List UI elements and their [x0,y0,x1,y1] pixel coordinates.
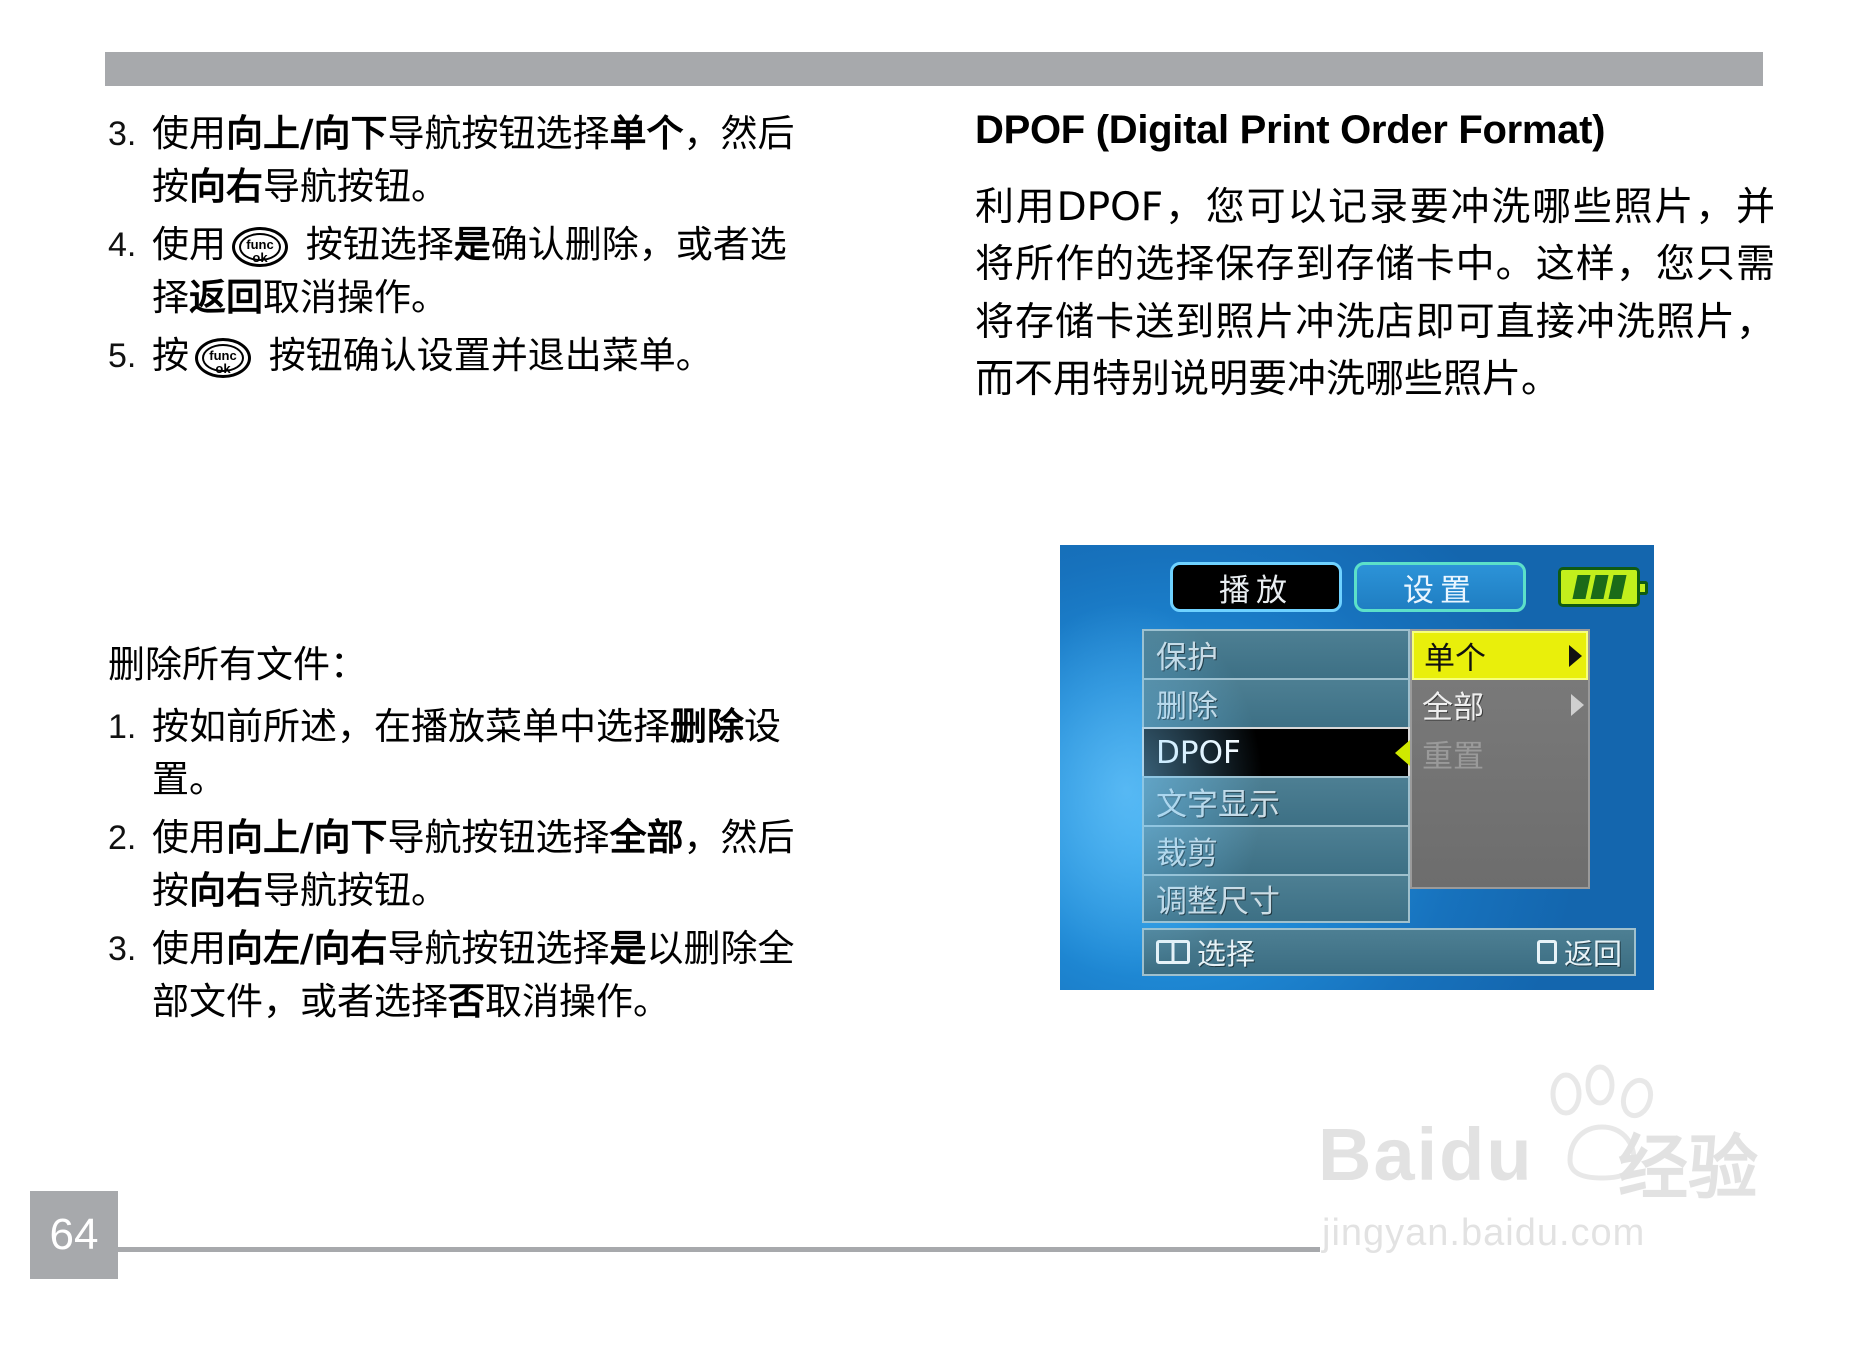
manual-page: 3. 使用向上/向下导航按钮选择单个，然后按向右导航按钮。 4. 使用funco… [0,0,1871,1361]
menu-item-label: DPOF [1156,735,1241,771]
baidu-watermark: Baidu 经验 jingyan.baidu.com [1318,1094,1838,1284]
page-header-bar [105,52,1763,86]
menu-item-delete[interactable]: 删除 [1142,678,1410,727]
submenu-item-label: 全部 [1422,682,1484,727]
step-text-part: 向右 [189,165,263,208]
tab-playback[interactable]: 播放 [1170,562,1342,612]
step-text-part: 是 [454,223,491,266]
battery-segment [1608,575,1626,599]
menu-item-crop[interactable]: 裁剪 [1142,825,1410,874]
step-text-part: 导航按钮选择 [388,927,610,970]
submenu-item-single[interactable]: 单个 [1412,631,1588,680]
menu-key-icon [1537,940,1557,964]
step-text-part: 向左/向右 [226,927,388,970]
step-text-part: 向上/向下 [226,816,388,859]
step-text-part: 按钮选择 [294,223,454,266]
step-text-part: 是 [610,927,647,970]
battery-segment [1590,575,1608,599]
step-text: 按如前所述，在播放菜单中选择删除设置。 [152,701,808,806]
step-number: 3. [108,923,152,973]
func-ok-button-icon: funcok [195,338,251,378]
chevron-right-icon [1395,740,1410,766]
step-text-part: 返回 [189,276,263,319]
step-text: 按funcok 按钮确认设置并退出菜单。 [152,330,808,383]
step-text-part: 删除 [670,705,744,748]
lcd-menu-list: 保护 删除 DPOF 文字显示 裁剪 调整尺寸 [1142,629,1410,923]
lcd-hint-bar: 选择 返回 [1142,928,1636,976]
step-number: 2. [108,812,152,862]
submenu-item-all[interactable]: 全部 [1412,680,1588,729]
step-text-part: 单个 [610,112,684,155]
dpof-heading: DPOF (Digital Print Order Format) [975,108,1775,153]
dpof-description: 利用DPOF，您可以记录要冲洗哪些照片，并将所作的选择保存到存储卡中。这样，您只… [975,179,1775,408]
menu-item-resize[interactable]: 调整尺寸 [1142,874,1410,923]
watermark-url: jingyan.baidu.com [1322,1212,1645,1255]
step-text-part: 取消操作。 [485,980,670,1023]
lcd-submenu-panel: 单个 全部 重置 [1410,629,1590,889]
tab-setup[interactable]: 设置 [1354,562,1526,612]
step-text: 使用funcok 按钮选择是确认删除，或者选择返回取消操作。 [152,219,808,324]
step-text-part: 按如前所述，在播放菜单中选择 [152,705,670,748]
list-item: 1. 按如前所述，在播放菜单中选择删除设置。 [108,701,808,806]
menu-item-label: 删除 [1156,681,1218,726]
step-text-part: 否 [448,980,485,1023]
step-text-part: 导航按钮。 [263,869,448,912]
step-text-part: 全部 [610,816,684,859]
step-text-part: 使用 [152,223,226,266]
chevron-right-icon [1569,645,1582,667]
page-number: 64 [30,1191,118,1279]
step-number: 4. [108,219,152,269]
baidu-paw-icon [1540,1064,1668,1184]
menu-item-label: 文字显示 [1156,779,1280,824]
step-text-part: 导航按钮选择 [388,816,610,859]
step-text-part: 导航按钮选择 [388,112,610,155]
func-ok-button-icon: funcok [232,227,288,267]
step-text-part: 向右 [189,869,263,912]
column-spacer [108,389,808,639]
step-text-part: 使用 [152,816,226,859]
right-column: DPOF (Digital Print Order Format) 利用DPOF… [975,108,1775,408]
list-item: 3. 使用向上/向下导航按钮选择单个，然后按向右导航按钮。 [108,108,808,213]
step-text-part: 导航按钮。 [263,165,448,208]
step-number: 5. [108,330,152,380]
menu-item-protect[interactable]: 保护 [1142,629,1410,678]
list-item: 4. 使用funcok 按钮选择是确认删除，或者选择返回取消操作。 [108,219,808,324]
left-column: 3. 使用向上/向下导航按钮选择单个，然后按向右导航按钮。 4. 使用funco… [108,108,808,1034]
battery-segment [1572,575,1590,599]
menu-item-label: 调整尺寸 [1156,876,1280,921]
steps-all-list: 1. 按如前所述，在播放菜单中选择删除设置。 2. 使用向上/向下导航按钮选择全… [108,701,808,1028]
ok-label: ok [235,251,285,264]
submenu-item-reset[interactable]: 重置 [1412,729,1588,778]
footer-rule [30,1247,1320,1252]
list-item: 3. 使用向左/向右导航按钮选择是以删除全部文件，或者选择否取消操作。 [108,923,808,1028]
menu-item-dpof[interactable]: DPOF [1142,727,1410,776]
battery-full-icon [1558,567,1640,607]
step-text-part: 向上/向下 [226,112,388,155]
submenu-item-label: 重置 [1422,731,1484,776]
step-text-part: 取消操作。 [263,276,448,319]
menu-item-label: 保护 [1156,632,1218,677]
delete-all-title: 删除所有文件： [108,639,808,692]
hint-select-label: 选择 [1197,931,1255,973]
step-text: 使用向左/向右导航按钮选择是以删除全部文件，或者选择否取消操作。 [152,923,808,1028]
hint-back: 返回 [1537,931,1622,973]
step-text-part: 按钮确认设置并退出菜单。 [257,334,713,377]
step-text: 使用向上/向下导航按钮选择全部，然后按向右导航按钮。 [152,812,808,917]
lcd-screen: 播放 设置 保护 删除 DPOF 文字显示 [1060,545,1654,990]
menu-item-label: 裁剪 [1156,828,1218,873]
step-text-part: 使用 [152,927,226,970]
menu-item-text-display[interactable]: 文字显示 [1142,776,1410,825]
step-text-part: 使用 [152,112,226,155]
ok-label: ok [198,362,248,375]
hint-select: 选择 [1156,931,1255,973]
nav-left-right-icon [1156,940,1190,964]
steps-single-list: 3. 使用向上/向下导航按钮选择单个，然后按向右导航按钮。 4. 使用funco… [108,108,808,383]
list-item: 5. 按funcok 按钮确认设置并退出菜单。 [108,330,808,383]
step-number: 1. [108,701,152,751]
step-number: 3. [108,108,152,158]
step-text-part: 按 [152,334,189,377]
list-item: 2. 使用向上/向下导航按钮选择全部，然后按向右导航按钮。 [108,812,808,917]
chevron-right-outline-icon [1571,694,1584,716]
hint-back-label: 返回 [1564,931,1622,973]
camera-lcd-screenshot: 播放 设置 保护 删除 DPOF 文字显示 [1060,545,1654,990]
step-text: 使用向上/向下导航按钮选择单个，然后按向右导航按钮。 [152,108,808,213]
submenu-item-label: 单个 [1424,633,1486,678]
watermark-brand-cn: 经验 [1618,1112,1758,1213]
watermark-brand: Baidu [1318,1112,1534,1197]
